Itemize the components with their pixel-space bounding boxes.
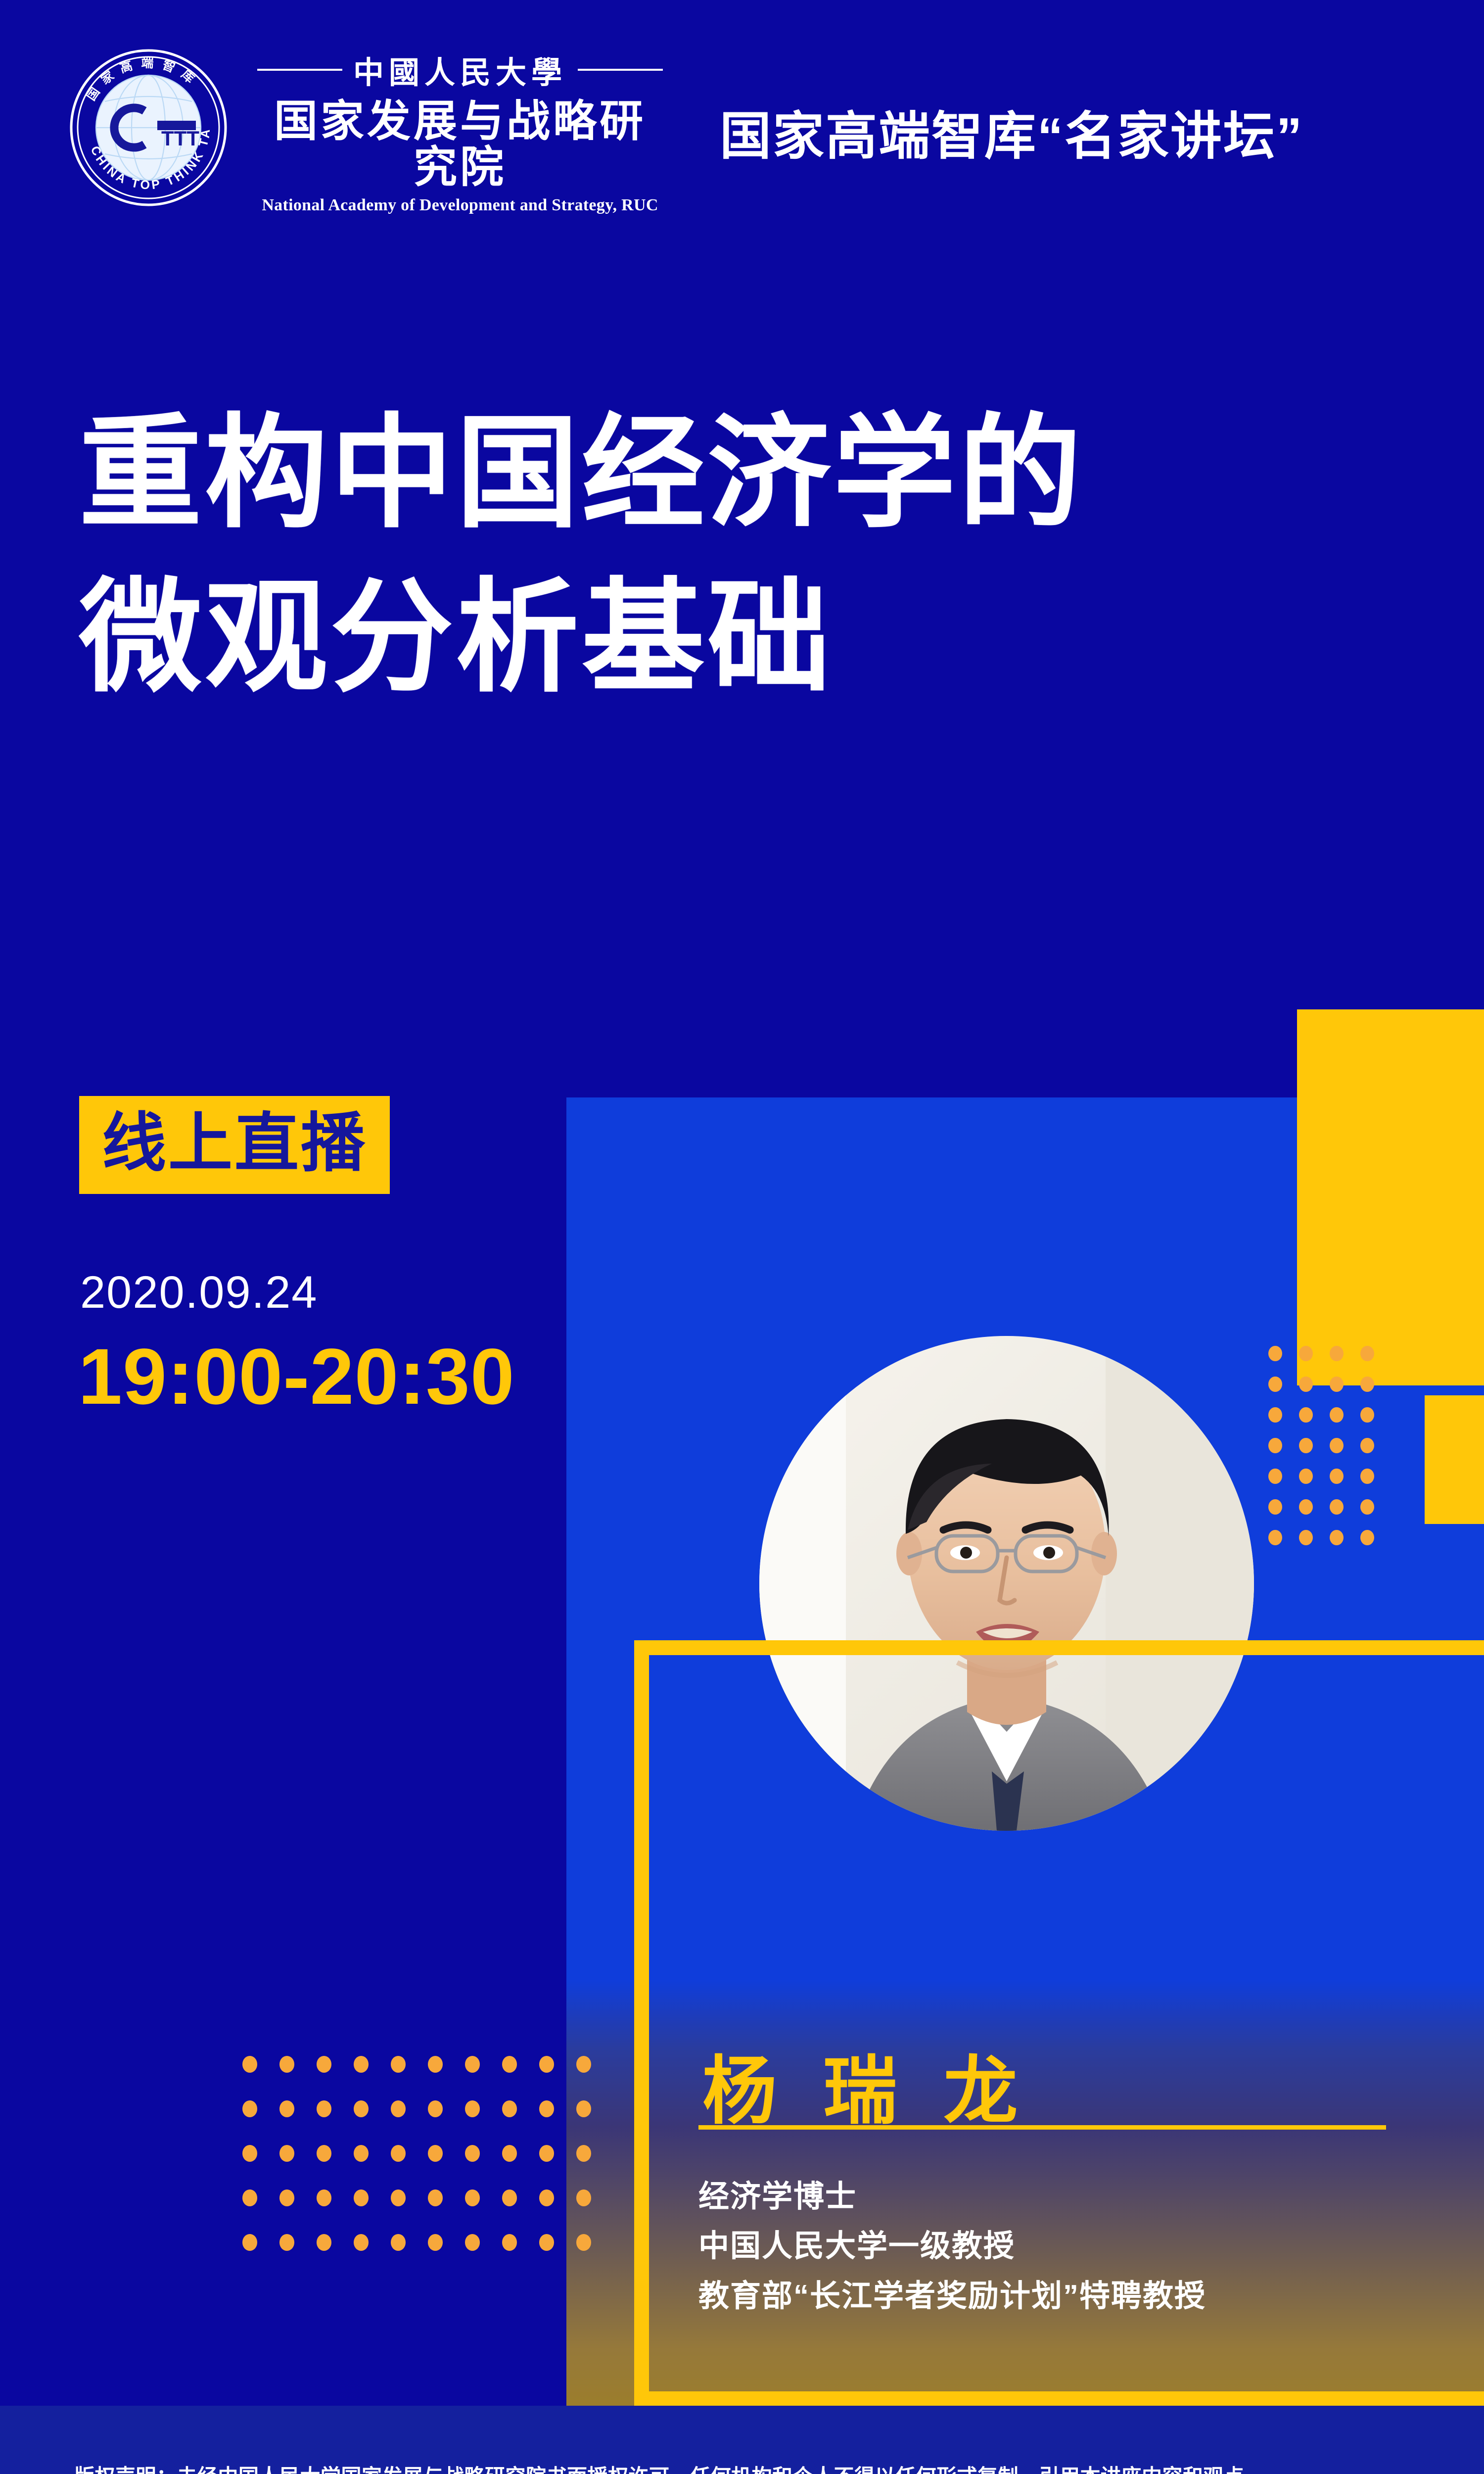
credential-item: 教育部“长江学者奖励计划”特聘教授 <box>698 2272 1470 2321</box>
decor-dot <box>1299 1377 1313 1392</box>
decor-dot <box>279 2100 294 2117</box>
decor-dot <box>576 2234 591 2251</box>
decor-dot <box>1268 1377 1282 1392</box>
decor-dot <box>465 2189 480 2206</box>
live-format-badge: 线上直播 <box>79 1096 390 1194</box>
copyright-line: 版权声明：未经中国人民大学国家发展与战略研究院书面授权许可，任何机构和个人不得以… <box>74 2453 1420 2474</box>
speaker-name: 杨 瑞 龙 <box>702 2031 1030 2139</box>
rule-right <box>578 69 663 71</box>
event-poster: TTT 国家高端智库 CHINA TOP THINK TANKS 中國人民大學 … <box>0 0 1484 2474</box>
decor-dot <box>465 2234 480 2251</box>
decor-dot <box>502 2189 517 2206</box>
decor-dot <box>428 2056 443 2073</box>
decor-dot <box>1330 1438 1344 1453</box>
seal-icon: TTT 国家高端智库 CHINA TOP THINK TANKS <box>69 48 228 207</box>
decor-dot <box>1268 1438 1282 1453</box>
decor-dot <box>1330 1346 1344 1361</box>
poster-footer: 版权声明：未经中国人民大学国家发展与战略研究院书面授权许可，任何机构和个人不得以… <box>0 2406 1484 2474</box>
decor-dot <box>391 2189 406 2206</box>
decor-dot <box>428 2145 443 2162</box>
dot-grid-left <box>242 2056 613 2279</box>
decor-dot <box>279 2145 294 2162</box>
institute-name-en: National Academy of Development and Stra… <box>257 196 663 215</box>
decor-dot <box>1268 1469 1282 1484</box>
decor-dot <box>502 2056 517 2073</box>
decor-dot <box>391 2100 406 2117</box>
university-name: 中國人民大學 <box>353 48 567 92</box>
decor-dot <box>539 2100 554 2117</box>
decor-dot <box>1360 1438 1374 1453</box>
copyright-notice: 版权声明：未经中国人民大学国家发展与战略研究院书面授权许可，任何机构和个人不得以… <box>74 2453 1420 2474</box>
decor-dot <box>1330 1377 1344 1392</box>
decor-dot <box>242 2145 257 2162</box>
decor-dot <box>1268 1346 1282 1361</box>
decor-dot <box>1330 1499 1344 1515</box>
decor-dot <box>1360 1407 1374 1423</box>
decor-dot <box>1330 1407 1344 1423</box>
lecture-series-title: 国家高端智库“名家讲坛” <box>720 69 1412 193</box>
decor-dot <box>1299 1346 1313 1361</box>
event-date: 2020.09.24 <box>80 1267 318 1319</box>
decor-dot <box>428 2189 443 2206</box>
speaker-divider <box>698 2125 1386 2130</box>
poster-header: TTT 国家高端智库 CHINA TOP THINK TANKS 中國人民大學 … <box>0 0 1484 233</box>
institute-wordmark: 中國人民大學 国家发展与战略研究院 National Academy of De… <box>257 69 702 193</box>
decor-dot <box>502 2100 517 2117</box>
decor-dot <box>317 2100 331 2117</box>
decor-dot <box>391 2056 406 2073</box>
university-row: 中國人民大學 <box>257 48 663 92</box>
institute-name-cn: 国家发展与战略研究院 <box>257 99 663 191</box>
decor-dot <box>1360 1530 1374 1545</box>
title-line-1: 重构中国经济学的 <box>79 391 1415 555</box>
decor-dot <box>354 2234 369 2251</box>
decor-dot <box>1299 1407 1313 1423</box>
decor-dot <box>576 2056 591 2073</box>
decor-dot <box>576 2100 591 2117</box>
decor-dot <box>1268 1499 1282 1515</box>
decor-dot <box>391 2145 406 2162</box>
decor-dot <box>1299 1530 1313 1545</box>
decor-dot <box>1299 1499 1313 1515</box>
decor-dot <box>391 2234 406 2251</box>
decor-dot <box>502 2234 517 2251</box>
decor-dot <box>317 2234 331 2251</box>
decor-dot <box>576 2145 591 2162</box>
decor-dot <box>242 2056 257 2073</box>
decor-dot <box>242 2189 257 2206</box>
decor-dot <box>242 2234 257 2251</box>
decor-dot <box>465 2100 480 2117</box>
decor-dot <box>279 2189 294 2206</box>
decor-dot <box>279 2234 294 2251</box>
decor-dot <box>1360 1377 1374 1392</box>
speaker-credentials: 经济学博士 中国人民大学一级教授 教育部“长江学者奖励计划”特聘教授 <box>698 2172 1470 2321</box>
poster-main-title: 重构中国经济学的 微观分析基础 <box>79 391 1415 720</box>
decor-dot <box>1268 1530 1282 1545</box>
decor-dot <box>428 2234 443 2251</box>
decor-dot <box>242 2100 257 2117</box>
decor-dot <box>465 2056 480 2073</box>
title-line-2: 微观分析基础 <box>79 555 1415 719</box>
yellow-rect-large <box>1297 1009 1484 1385</box>
decor-dot <box>465 2145 480 2162</box>
decor-dot <box>354 2189 369 2206</box>
decor-dot <box>317 2189 331 2206</box>
decor-dot <box>354 2056 369 2073</box>
decor-dot <box>1360 1469 1374 1484</box>
event-time: 19:00-20:30 <box>78 1331 515 1422</box>
yellow-rect-small <box>1425 1395 1484 1524</box>
decor-dot <box>279 2056 294 2073</box>
decor-dot <box>354 2145 369 2162</box>
decor-dot <box>539 2234 554 2251</box>
decor-dot <box>502 2145 517 2162</box>
svg-text:TTT: TTT <box>161 127 199 150</box>
decor-dot <box>317 2145 331 2162</box>
decor-dot <box>1360 1346 1374 1361</box>
decor-dot <box>1299 1469 1313 1484</box>
decor-dot <box>428 2100 443 2117</box>
think-tank-seal-logo: TTT 国家高端智库 CHINA TOP THINK TANKS <box>69 48 228 207</box>
decor-dot <box>1330 1469 1344 1484</box>
decor-dot <box>539 2056 554 2073</box>
decor-dot <box>354 2100 369 2117</box>
decor-dot <box>539 2145 554 2162</box>
decor-dot <box>539 2189 554 2206</box>
decor-dot <box>1268 1407 1282 1423</box>
decor-dot <box>1330 1530 1344 1545</box>
decor-dot <box>1360 1499 1374 1515</box>
credential-item: 经济学博士 <box>698 2172 1470 2222</box>
rule-left <box>257 69 342 71</box>
decor-dot <box>576 2189 591 2206</box>
credential-item: 中国人民大学一级教授 <box>698 2222 1470 2271</box>
decor-dot <box>317 2056 331 2073</box>
decor-dot <box>1299 1438 1313 1453</box>
